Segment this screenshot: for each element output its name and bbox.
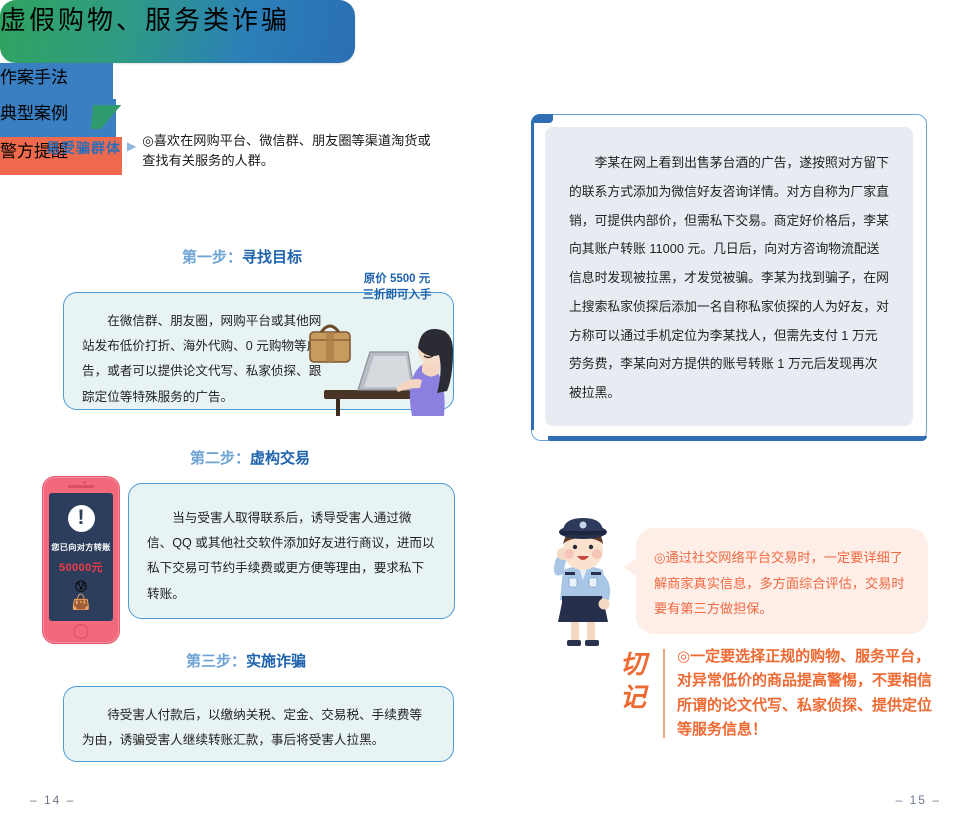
phone-transfer-amount: 50000元 <box>59 559 103 575</box>
case-box-corner-accent <box>531 114 553 123</box>
step-2-number: 第二步： <box>190 451 250 467</box>
phone-camera-icon <box>83 481 86 484</box>
phone-illustration: ! 您已向对方转账 50000元 😰 👜 <box>42 476 120 644</box>
remember-block: 切 记 ◎一定要选择正规的购物、服务平台，对异常低价的商品提高警惕，不要相信所谓… <box>607 645 932 742</box>
vulnerable-group-row: 易受骗群体 ▶ ◎喜欢在网购平台、微信群、朋友圈等渠道淘货或查找有关服务的人群。 <box>46 131 456 172</box>
phone-screen: ! 您已向对方转账 50000元 😰 👜 <box>49 493 113 621</box>
step-2-body: 当与受害人取得联系后，诱导受害人通过微信、QQ 或其他社交软件添加好友进行商议，… <box>129 484 454 607</box>
case-body: 李某在网上看到出售茅台酒的广告，遂按照对方留下的联系方式添加为微信好友咨询详情。… <box>569 149 889 408</box>
case-box-bottom-accent <box>548 436 927 441</box>
step-2-box: 当与受害人取得联系后，诱导受害人通过微信、QQ 或其他社交软件添加好友进行商议，… <box>128 483 455 619</box>
page-number-left: – 14 – <box>30 793 75 807</box>
police-reminder-box: ◎通过社交网络平台交易时，一定要详细了解商家真实信息，多方面综合评估，交易时要有… <box>636 528 928 634</box>
brochure-page: 虚假购物、服务类诈骗 易受骗群体 ▶ ◎喜欢在网购平台、微信群、朋友圈等渠道淘货… <box>0 0 971 829</box>
step-3-number: 第三步： <box>186 654 246 670</box>
page-title: 虚假购物、服务类诈骗 <box>0 0 355 63</box>
triangle-right-icon: ▶ <box>121 131 142 172</box>
step-2-heading: 第二步：虚构交易 <box>190 447 310 468</box>
phone-speaker-icon <box>68 485 94 488</box>
section-heading-method: 作案手法 <box>0 63 113 99</box>
police-officer-illustration <box>529 512 637 648</box>
price-tag-callout: 原价 5500 元 三折即可入手 <box>347 272 447 303</box>
price-tag-line-2: 三折即可入手 <box>347 288 447 304</box>
vulnerable-group-text: ◎喜欢在网购平台、微信群、朋友圈等渠道淘货或查找有关服务的人群。 <box>142 131 442 172</box>
step-3-title: 实施诈骗 <box>246 653 306 670</box>
case-box: 李某在网上看到出售茅台酒的广告，遂按照对方留下的联系方式添加为微信好友咨询详情。… <box>531 114 927 441</box>
step-1-heading: 第一步：寻找目标 <box>182 246 302 267</box>
step-3-heading: 第三步：实施诈骗 <box>186 650 306 671</box>
remember-divider <box>663 649 665 738</box>
remember-mark-char-1: 切 <box>607 649 659 682</box>
online-shopper-illustration <box>296 290 466 416</box>
police-reminder-body: ◎通过社交网络平台交易时，一定要详细了解商家真实信息，多方面综合评估，交易时要有… <box>636 528 928 622</box>
price-tag-line-1: 原价 5500 元 <box>347 272 447 288</box>
step-1-number: 第一步： <box>182 250 242 266</box>
handbag-icon <box>310 326 350 362</box>
vulnerable-group-label: 易受骗群体 <box>46 131 121 172</box>
title-bubble-tail <box>91 105 122 129</box>
step-2-title: 虚构交易 <box>250 450 310 467</box>
step-1-title: 寻找目标 <box>242 249 302 266</box>
remember-mark-char-2: 记 <box>607 682 659 715</box>
alert-exclamation-icon: ! <box>68 505 95 532</box>
phone-home-button-icon <box>74 624 89 639</box>
handbag-crossed-icon: 👜 <box>72 593 91 611</box>
phone-transfer-notice: 您已向对方转账 <box>51 541 110 553</box>
remember-body: ◎一定要选择正规的购物、服务平台，对异常低价的商品提高警惕，不要相信所谓的论文代… <box>677 645 932 742</box>
case-box-left-edge <box>531 121 534 430</box>
step-3-body: 待受害人付款后，以缴纳关税、定金、交易税、手续费等为由，诱骗受害人继续转账汇款，… <box>64 687 453 753</box>
case-box-inner: 李某在网上看到出售茅台酒的广告，遂按照对方留下的联系方式添加为微信好友咨询详情。… <box>545 127 913 426</box>
remember-mark: 切 记 <box>607 645 659 742</box>
page-number-right: – 15 – <box>896 793 941 807</box>
step-3-box: 待受害人付款后，以缴纳关税、定金、交易税、手续费等为由，诱骗受害人继续转账汇款，… <box>63 686 454 762</box>
